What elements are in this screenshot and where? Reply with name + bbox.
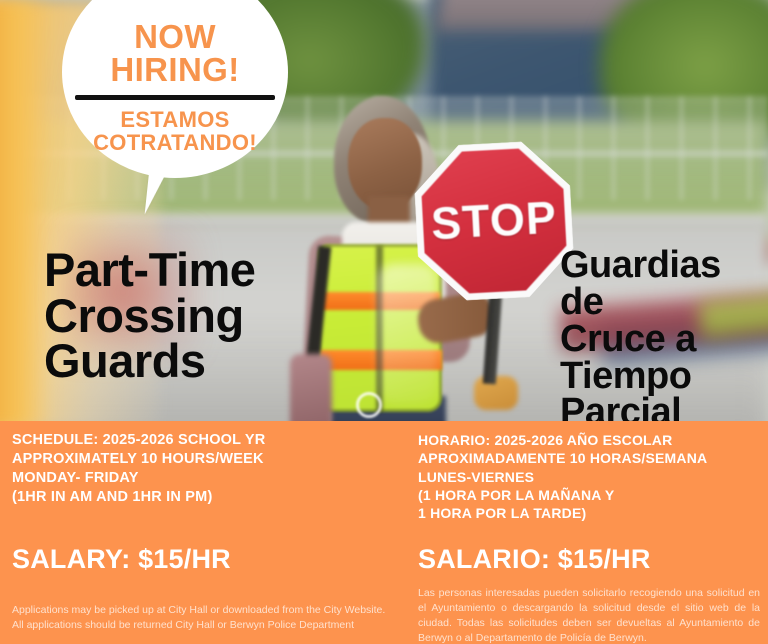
headline-english: Part-Time Crossing Guards	[44, 247, 255, 384]
now-hiring-line-1: NOW	[134, 20, 216, 53]
stop-sign-label: STOP	[430, 192, 558, 251]
schedule-english: SCHEDULE: 2025-2026 SCHOOL YR APPROXIMAT…	[12, 421, 410, 507]
schedule-spanish: HORARIO: 2025-2026 AÑO ESCOLAR APROXIMAD…	[418, 421, 768, 523]
english-column: SCHEDULE: 2025-2026 SCHOOL YR APPROXIMAT…	[12, 421, 410, 507]
salary-english: SALARY: $15/HR	[12, 544, 231, 575]
speech-bubble: NOW HIRING! ESTAMOS COTRATANDO!	[62, 0, 288, 178]
salary-spanish: SALARIO: $15/HR	[418, 544, 651, 575]
estamos-contratando-line-1: ESTAMOS	[120, 108, 229, 131]
now-hiring-line-2: HIRING!	[110, 53, 239, 86]
spanish-column: HORARIO: 2025-2026 AÑO ESCOLAR APROXIMAD…	[418, 421, 768, 523]
bubble-divider	[75, 95, 275, 100]
stop-sign-face: STOP	[419, 146, 568, 295]
gold-core-overlay	[0, 0, 50, 430]
recruitment-poster: STOP NOW HIRING! ESTAMOS COTRATANDO! Par…	[0, 0, 768, 644]
fine-print-english: Applications may be picked up at City Ha…	[12, 603, 412, 633]
headline-spanish: Guardias de Cruce a Tiempo Parcial	[560, 247, 768, 431]
estamos-contratando-line-2: COTRATANDO!	[93, 131, 257, 154]
vest-buckle-ring	[356, 392, 382, 418]
fine-print-spanish: Las personas interesadas pueden solicita…	[418, 586, 760, 644]
